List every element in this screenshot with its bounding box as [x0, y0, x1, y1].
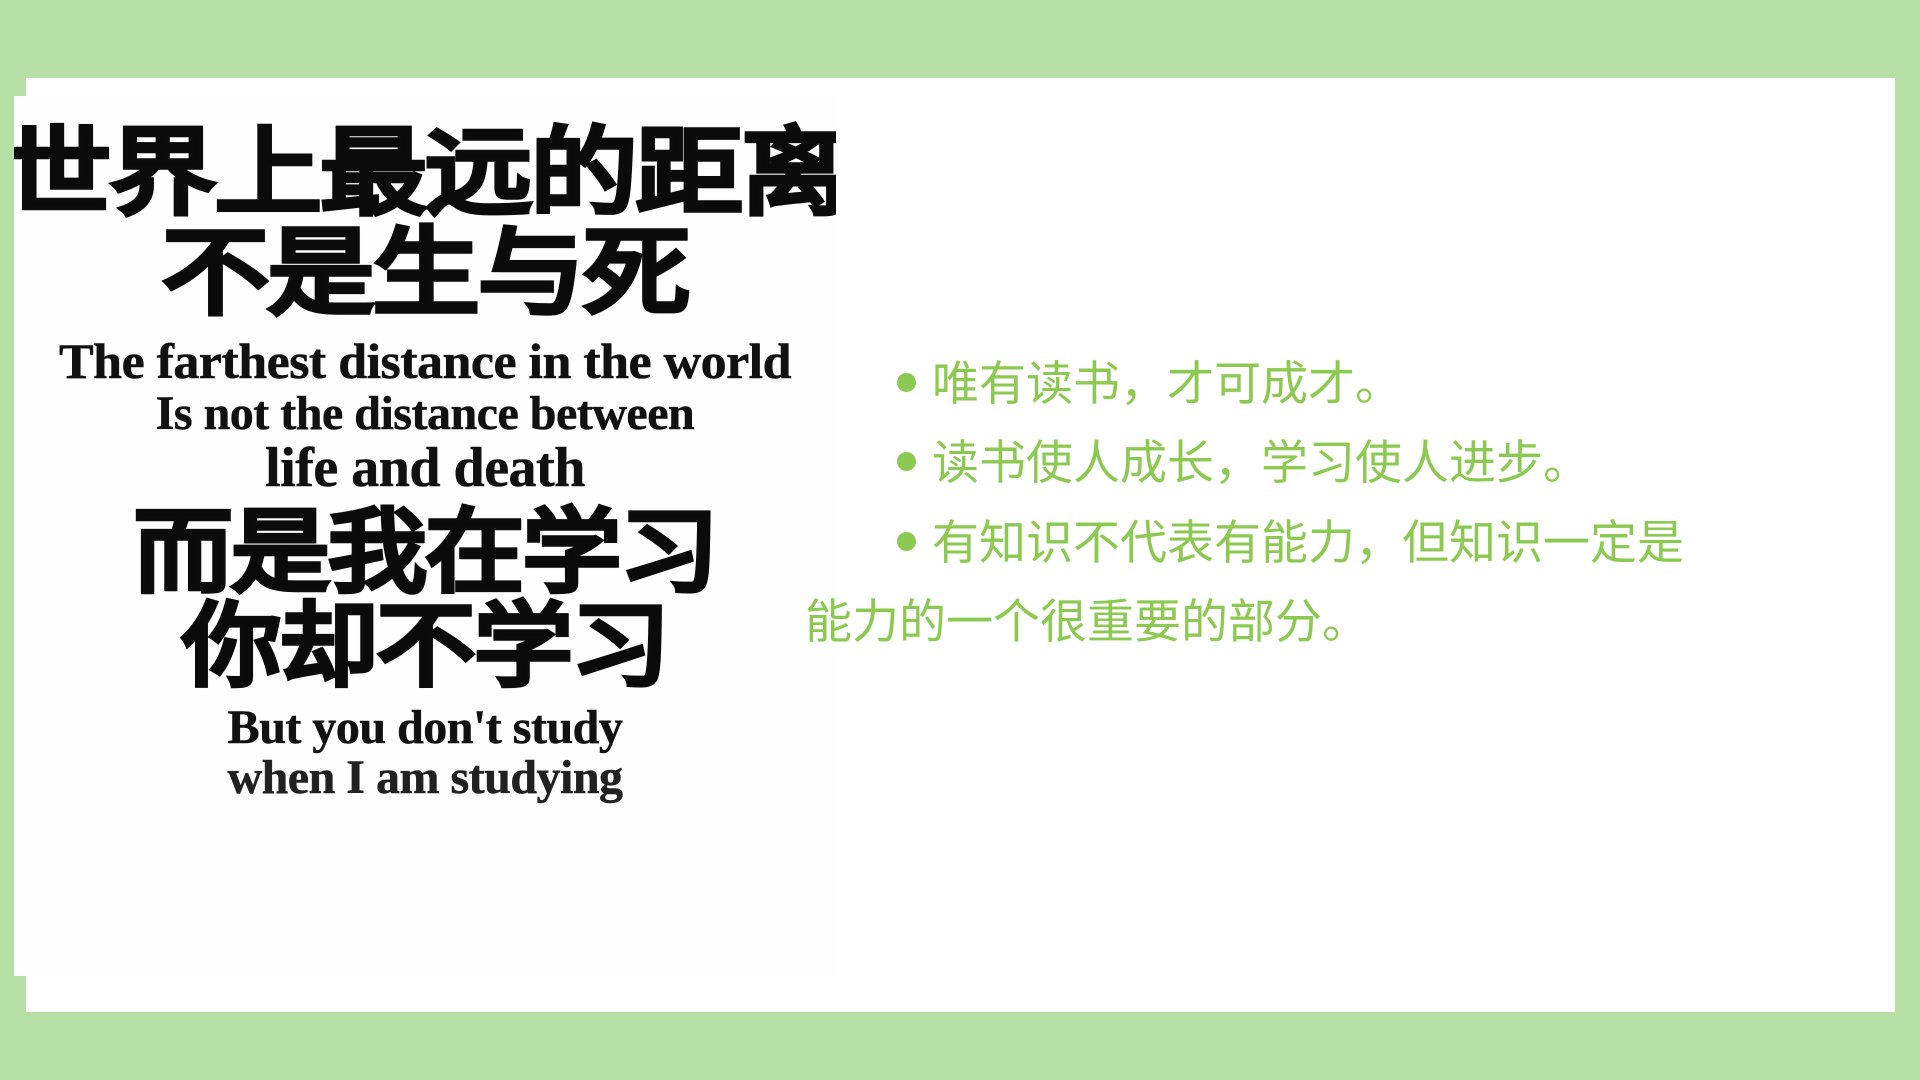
list-item: 有知识不代表有能力，但知识一定是 — [805, 515, 1855, 572]
meme-line-cn4: 你却不学习 — [14, 602, 836, 692]
bullet-item-text: 读书使人成长，学习使人进步。 — [932, 435, 1590, 492]
bullet-item-continuation: 能力的一个很重要的部分。 — [805, 594, 1855, 651]
frame-left-thin-strip — [0, 104, 14, 956]
bullet-item-text: 有知识不代表有能力，但知识一定是 — [932, 515, 1684, 572]
list-item: 读书使人成长，学习使人进步。 — [805, 435, 1855, 492]
meme-line-en3: life and death — [14, 440, 836, 496]
bullet-dot-icon — [897, 452, 916, 471]
list-item: 唯有读书，才可成才。 — [805, 356, 1855, 413]
frame-top-band — [0, 0, 1920, 78]
frame-right-band — [1895, 0, 1920, 1080]
meme-line-cn3: 而是我在学习 — [14, 508, 836, 598]
frame-bottom-band — [0, 1012, 1920, 1080]
meme-line-cn1: 世界上最远的距离 — [14, 126, 836, 220]
meme-line-en1: The farthest distance in the world — [14, 336, 836, 386]
motivation-meme-image: 世界上最远的距离 不是生与死 The farthest distance in … — [14, 96, 836, 976]
bullet-dot-icon — [897, 532, 916, 551]
meme-line-en2: Is not the distance between — [14, 390, 836, 438]
meme-line-en4: But you don't study — [14, 704, 836, 752]
slide-canvas: 世界上最远的距离 不是生与死 The farthest distance in … — [0, 0, 1920, 1080]
frame-left-top-block — [0, 0, 26, 104]
bullet-item-text: 唯有读书，才可成才。 — [932, 356, 1402, 413]
meme-line-en5: when I am studying — [14, 754, 836, 802]
meme-text-stack: 世界上最远的距离 不是生与死 The farthest distance in … — [14, 96, 836, 802]
bullet-dot-icon — [897, 373, 916, 392]
meme-line-cn2: 不是生与死 — [14, 226, 836, 320]
bullet-list: 唯有读书，才可成才。 读书使人成长，学习使人进步。 有知识不代表有能力，但知识一… — [805, 356, 1855, 651]
